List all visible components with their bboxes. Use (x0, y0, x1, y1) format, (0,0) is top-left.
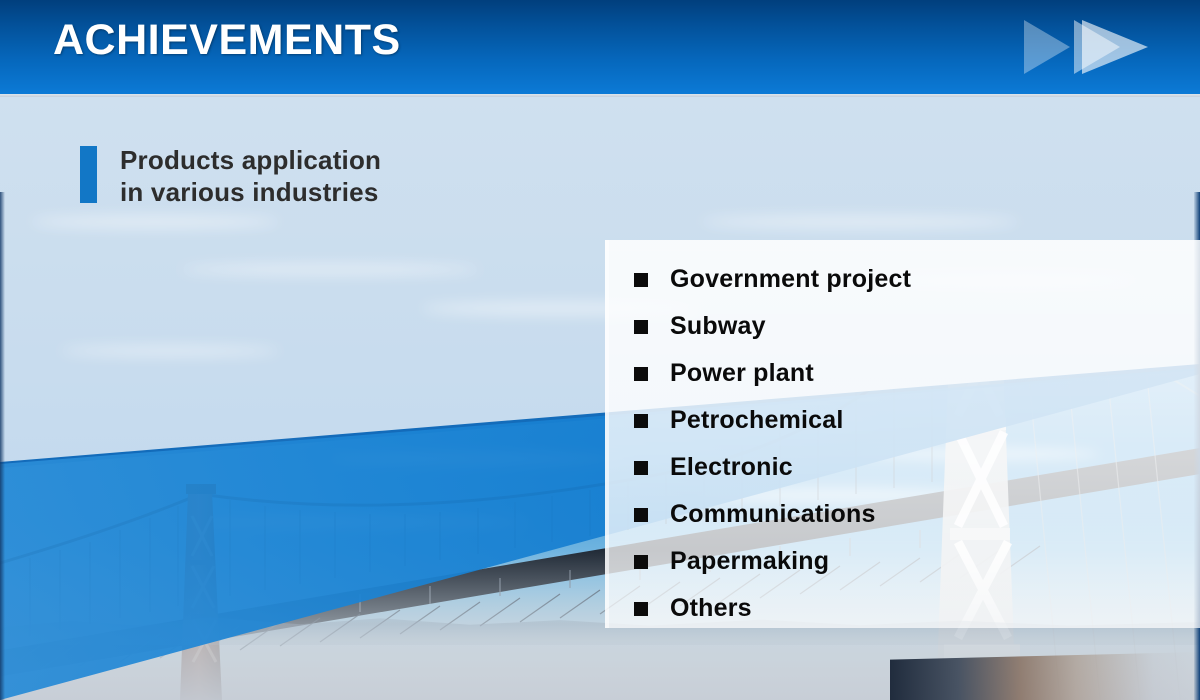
slide-header: ACHIEVEMENTS (0, 0, 1200, 94)
accent-bar (80, 146, 97, 203)
header-divider (0, 94, 1200, 97)
list-item[interactable]: Communications (634, 491, 1194, 538)
list-item-label: Electronic (670, 453, 793, 482)
list-item[interactable]: Subway (634, 303, 1194, 350)
subtitle-text: Products application in various industri… (120, 144, 381, 208)
left-edge-shadow (0, 192, 5, 700)
cloud-wisp (60, 346, 280, 356)
list-item[interactable]: Papermaking (634, 538, 1194, 585)
list-item-label: Government project (670, 265, 911, 294)
square-bullet-icon (634, 555, 648, 569)
list-item[interactable]: Government project (634, 256, 1194, 303)
list-item[interactable]: Electronic (634, 444, 1194, 491)
list-item-label: Communications (670, 500, 876, 529)
content-panel-edge (605, 240, 609, 628)
square-bullet-icon (634, 508, 648, 522)
cloud-wisp (180, 264, 480, 275)
industry-list: Government project Subway Power plant Pe… (634, 256, 1194, 632)
list-item[interactable]: Others (634, 585, 1194, 632)
cloud-wisp (30, 216, 280, 228)
list-item[interactable]: Power plant (634, 350, 1194, 397)
list-item-label: Papermaking (670, 547, 829, 576)
list-item-label: Power plant (670, 359, 814, 388)
fast-forward-icon (1022, 18, 1152, 76)
cloud-wisp (700, 216, 1020, 228)
square-bullet-icon (634, 414, 648, 428)
page-title: ACHIEVEMENTS (53, 16, 401, 65)
list-item-label: Others (670, 594, 752, 623)
square-bullet-icon (634, 273, 648, 287)
list-item-label: Petrochemical (670, 406, 844, 435)
list-item-label: Subway (670, 312, 766, 341)
foreground-pier (890, 652, 1200, 700)
square-bullet-icon (634, 602, 648, 616)
list-item[interactable]: Petrochemical (634, 397, 1194, 444)
square-bullet-icon (634, 320, 648, 334)
slide-canvas: ACHIEVEMENTS Products application in var… (0, 0, 1200, 700)
square-bullet-icon (634, 367, 648, 381)
subtitle-block: Products application in various industri… (80, 144, 381, 208)
square-bullet-icon (634, 461, 648, 475)
